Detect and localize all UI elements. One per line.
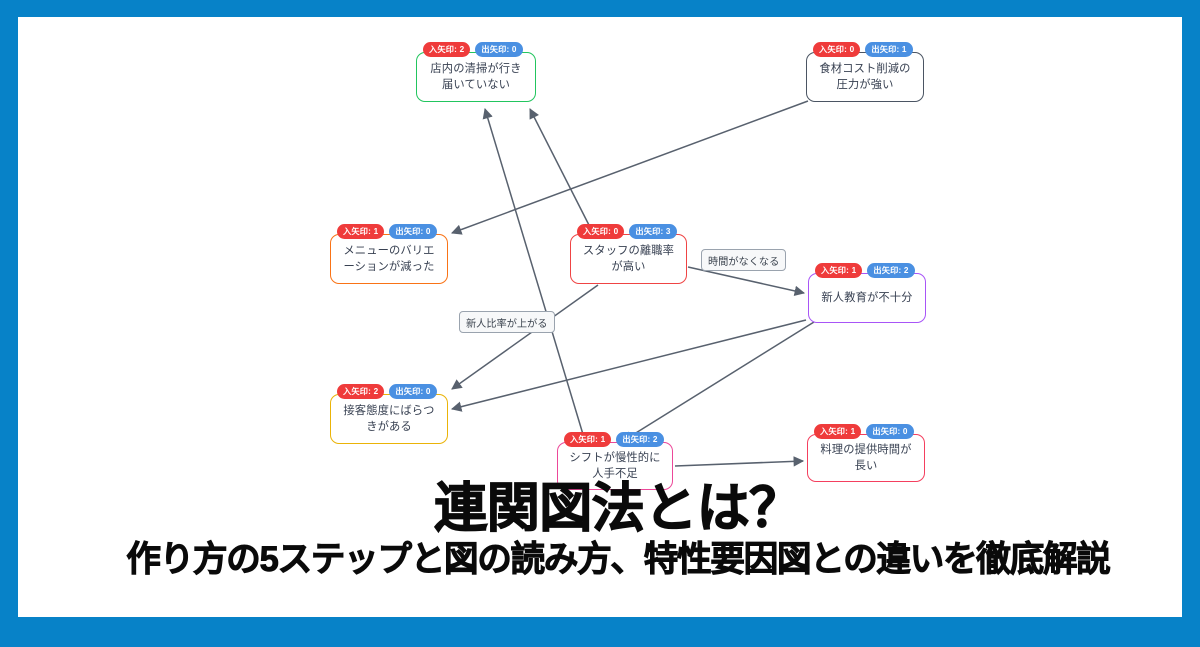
edge-training-to-shift-shortage[interactable] xyxy=(623,322,814,441)
node-training[interactable]: 入矢印: 1出矢印: 2新人教育が不十分 xyxy=(808,273,926,323)
node-badges: 入矢印: 2出矢印: 0 xyxy=(337,384,437,399)
node-label: 新人教育が不十分 xyxy=(817,290,917,306)
out-arrow-badge: 出矢印: 2 xyxy=(616,432,663,447)
node-label: 食材コスト削減の圧力が強い xyxy=(815,61,915,93)
in-arrow-badge: 入矢印: 0 xyxy=(577,224,624,239)
edge-layer xyxy=(18,17,1200,647)
in-arrow-badge: 入矢印: 0 xyxy=(813,42,860,57)
node-label: シフトが慢性的に人手不足 xyxy=(566,450,664,482)
out-arrow-badge: 出矢印: 0 xyxy=(389,224,436,239)
node-service-attitude[interactable]: 入矢印: 2出矢印: 0接客態度にばらつきがある xyxy=(330,394,448,444)
node-food-cost[interactable]: 入矢印: 0出矢印: 1食材コスト削減の圧力が強い xyxy=(806,52,924,102)
out-arrow-badge: 出矢印: 0 xyxy=(866,424,913,439)
node-label: 接客態度にばらつきがある xyxy=(339,403,439,435)
node-turnover[interactable]: 入矢印: 0出矢印: 3スタッフの離職率が高い xyxy=(570,234,687,284)
node-serving-time[interactable]: 入矢印: 1出矢印: 0料理の提供時間が長い xyxy=(807,434,925,482)
node-badges: 入矢印: 0出矢印: 1 xyxy=(813,42,913,57)
node-badges: 入矢印: 1出矢印: 0 xyxy=(814,424,914,439)
node-label: 料理の提供時間が長い xyxy=(816,442,916,474)
diagram-canvas[interactable]: 入矢印: 2出矢印: 0店内の清掃が行き届いていない入矢印: 0出矢印: 1食材… xyxy=(18,17,1200,647)
edge-training-to-service-attitude[interactable] xyxy=(452,320,806,409)
out-arrow-badge: 出矢印: 0 xyxy=(389,384,436,399)
page-frame: 入矢印: 2出矢印: 0店内の清掃が行き届いていない入矢印: 0出矢印: 1食材… xyxy=(0,0,1200,630)
out-arrow-badge: 出矢印: 0 xyxy=(475,42,522,57)
out-arrow-badge: 出矢印: 2 xyxy=(867,263,914,278)
out-arrow-badge: 出矢印: 3 xyxy=(629,224,676,239)
node-badges: 入矢印: 1出矢印: 2 xyxy=(564,432,664,447)
node-label: メニューのバリエーションが減った xyxy=(339,243,439,275)
node-menu-variation[interactable]: 入矢印: 1出矢印: 0メニューのバリエーションが減った xyxy=(330,234,448,284)
out-arrow-badge: 出矢印: 1 xyxy=(865,42,912,57)
node-badges: 入矢印: 1出矢印: 2 xyxy=(815,263,915,278)
edge-shift-shortage-to-serving-time[interactable] xyxy=(675,461,803,466)
in-arrow-badge: 入矢印: 1 xyxy=(815,263,862,278)
node-badges: 入矢印: 2出矢印: 0 xyxy=(423,42,523,57)
node-cleaning[interactable]: 入矢印: 2出矢印: 0店内の清掃が行き届いていない xyxy=(416,52,536,102)
in-arrow-badge: 入矢印: 2 xyxy=(423,42,470,57)
edge-turnover-to-cleaning[interactable] xyxy=(530,109,593,233)
in-arrow-badge: 入矢印: 2 xyxy=(337,384,384,399)
in-arrow-badge: 入矢印: 1 xyxy=(814,424,861,439)
edge-turnover-to-service-attitude[interactable] xyxy=(452,285,598,389)
node-label: 店内の清掃が行き届いていない xyxy=(425,61,527,93)
node-badges: 入矢印: 1出矢印: 0 xyxy=(337,224,437,239)
edge-label-l1[interactable]: 時間がなくなる xyxy=(701,249,786,271)
edge-food-cost-to-menu-variation[interactable] xyxy=(452,101,808,233)
in-arrow-badge: 入矢印: 1 xyxy=(564,432,611,447)
in-arrow-badge: 入矢印: 1 xyxy=(337,224,384,239)
edge-label-l2[interactable]: 新人比率が上がる xyxy=(459,311,555,333)
node-label: スタッフの離職率が高い xyxy=(579,243,678,275)
node-shift-shortage[interactable]: 入矢印: 1出矢印: 2シフトが慢性的に人手不足 xyxy=(557,442,673,490)
node-badges: 入矢印: 0出矢印: 3 xyxy=(577,224,677,239)
